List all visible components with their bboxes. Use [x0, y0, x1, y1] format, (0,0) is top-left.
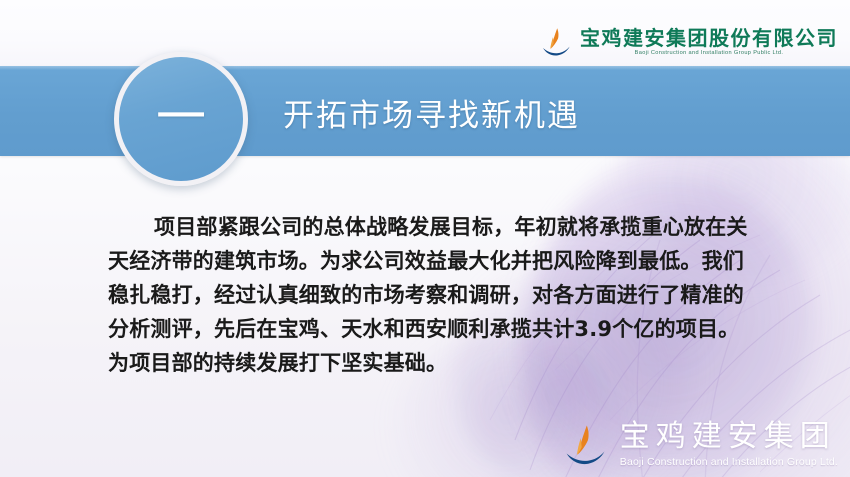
- company-name-block-header: 宝鸡建安集团股份有限公司 Baoji Construction and Inst…: [580, 28, 838, 57]
- presentation-slide: 宝鸡建安集团股份有限公司 Baoji Construction and Inst…: [0, 0, 850, 477]
- body-line: 天经济带的建筑市场。为求公司效益最大化并把风险降到最低。我们: [108, 244, 788, 278]
- section-number-badge: 一: [114, 52, 248, 186]
- company-name-en-footer: Baoji Construction and Installation Grou…: [620, 457, 838, 468]
- body-paragraph: 项目部紧跟公司的总体战略发展目标，年初就将承揽重心放在关 天经济带的建筑市场。为…: [108, 210, 788, 380]
- body-line: 分析测评，先后在宝鸡、天水和西安顺利承揽共计3.9个亿的项目。: [108, 312, 788, 346]
- company-name-cn-header: 宝鸡建安集团股份有限公司: [580, 28, 838, 48]
- company-name-en-header: Baoji Construction and Installation Grou…: [577, 51, 840, 57]
- company-logo-header: 宝鸡建安集团股份有限公司 Baoji Construction and Inst…: [539, 22, 838, 62]
- body-line: 为项目部的持续发展打下坚实基础。: [108, 346, 788, 380]
- company-name-cn-footer: 宝鸡建安集团: [620, 422, 838, 452]
- header-top-strip: 宝鸡建安集团股份有限公司 Baoji Construction and Inst…: [0, 0, 850, 66]
- body-line: 项目部紧跟公司的总体战略发展目标，年初就将承揽重心放在关: [108, 210, 788, 244]
- sail-boat-logo-icon: [539, 25, 573, 59]
- company-logo-footer: 宝鸡建安集团 Baoji Construction and Installati…: [561, 421, 838, 469]
- band-sheen-decoration: [0, 66, 850, 70]
- section-number-label: 一: [156, 92, 206, 142]
- company-name-block-footer: 宝鸡建安集团 Baoji Construction and Installati…: [620, 422, 838, 468]
- body-line: 稳扎稳打，经过认真细致的市场考察和调研，对各方面进行了精准的: [108, 278, 788, 312]
- page-title: 开拓市场寻找新机遇: [283, 90, 580, 135]
- sail-boat-logo-icon: [561, 421, 609, 469]
